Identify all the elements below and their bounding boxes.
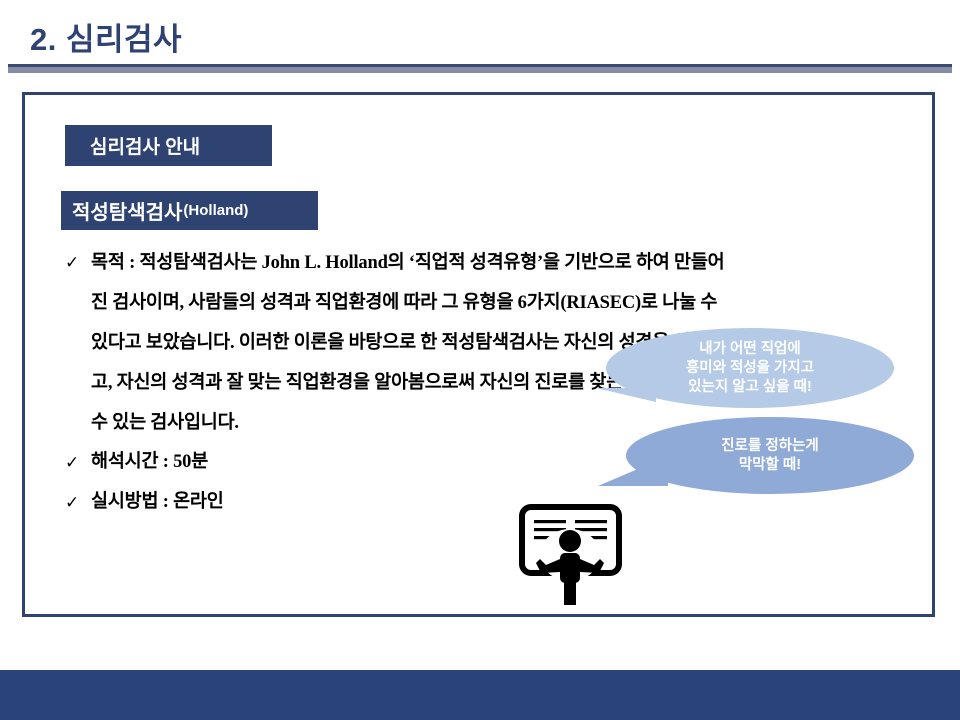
badge-test-name: 적성탐색검사(Holland) [61,191,318,230]
bubble-line: 내가 어떤 직업에 [699,341,800,357]
presenter-board-icon [513,493,628,608]
paragraph-line: 목적 : 적성탐색검사는 John L. Holland의 ‘직업적 성격유형’… [91,243,920,283]
bubble-line: 흥미와 적성을 가지고 [686,360,814,376]
speech-bubble-text: 진로를 정하는게 막막할 때! [721,437,818,475]
page-title: 2. 심리검사 [30,14,182,59]
checkmark-icon: ✓ [65,443,91,483]
checkmark-icon: ✓ [65,243,91,283]
bubble-line: 진로를 정하는게 [721,438,818,454]
speech-bubble-interest: 내가 어떤 직업에 흥미와 적성을 가지고 있는지 알고 싶을 때! [606,328,894,408]
checkmark-icon: ✓ [65,483,91,523]
badge-secondary-label: 적성탐색검사 [72,196,182,225]
footer-bar [0,670,960,720]
badge-primary-label: 심리검사 안내 [90,132,200,159]
speech-bubble-text: 내가 어떤 직업에 흥미와 적성을 가지고 있는지 알고 싶을 때! [686,340,814,397]
paragraph-line: 진 검사이며, 사람들의 성격과 직업환경에 따라 그 유형을 6가지(RIAS… [91,283,920,323]
bubble-line: 있는지 알고 싶을 때! [688,379,812,395]
bubble-line: 막막할 때! [739,457,801,473]
speech-bubble-career: 진로를 정하는게 막막할 때! [626,417,914,494]
badge-section-heading: 심리검사 안내 [65,125,272,166]
badge-secondary-sublabel: (Holland) [183,202,248,219]
title-divider [8,64,952,73]
